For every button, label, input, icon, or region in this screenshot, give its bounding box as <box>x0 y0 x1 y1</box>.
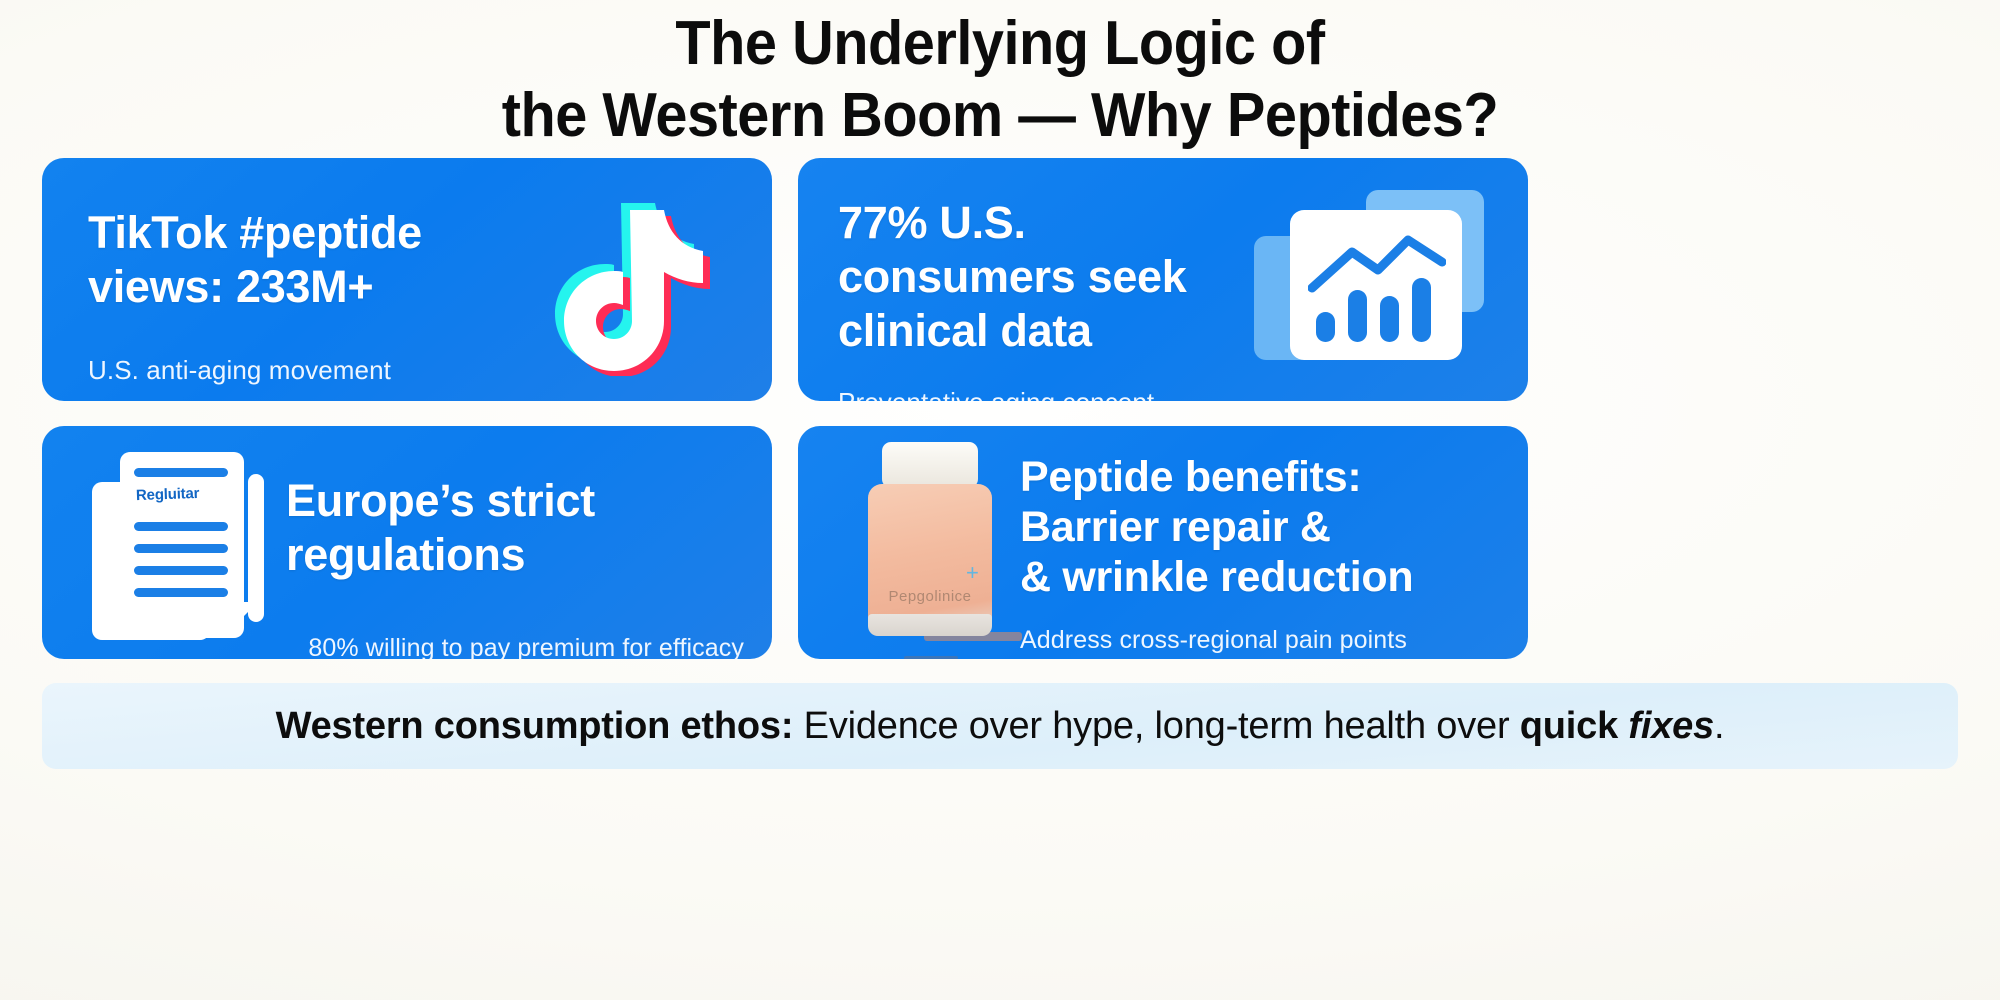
page-title-line-2: the Western Boom — Why Peptides? <box>70 80 1930 152</box>
bottle-body: + Pepgolinice <box>868 484 992 634</box>
card-clinical-subtitle: Preventative aging concept <box>838 386 1238 401</box>
regulation-document-icon: Regluitar <box>92 448 272 644</box>
card-clinical-headline-line-1: 77% U.S. <box>838 196 1238 250</box>
page-title-line-1: The Underlying Logic of <box>70 8 1930 80</box>
card-peptide-subtitle-line-1: Address cross-regional pain points <box>1020 624 1512 656</box>
tiktok-logo-icon <box>522 196 712 376</box>
card-grid: TikTok #peptide views: 233M+ U.S. anti-a… <box>42 158 1958 659</box>
bottle-base <box>868 614 992 636</box>
chart-icon-bar-1 <box>1316 312 1335 342</box>
card-europe-headline-line-1: Europe’s strict <box>286 474 744 528</box>
card-tiktok-subtitle: U.S. anti-aging movement <box>88 354 528 387</box>
card-tiktok-headline-line-2: views: 233M+ <box>88 260 528 314</box>
document-icon-side-page <box>248 474 264 622</box>
card-peptide-headline-line-3: & wrinkle reduction <box>1020 552 1512 602</box>
card-clinical-headline-line-2: consumers seek <box>838 250 1238 304</box>
chart-icon-front-sheet <box>1290 210 1462 360</box>
card-peptide-text: Peptide benefits: Barrier repair & & wri… <box>1020 452 1512 659</box>
card-peptide-subtitle-line-2: (arid west, harsh winters, intense sun) <box>1020 656 1512 659</box>
card-peptide-headline-line-1: Peptide benefits: <box>1020 452 1512 502</box>
card-peptide-headline-line-2: Barrier repair & <box>1020 502 1512 552</box>
bottle-cap <box>882 442 978 488</box>
card-europe-headline-line-2: regulations <box>286 528 744 582</box>
card-europe-text: Europe’s strict regulations 80% willing … <box>286 474 744 659</box>
page-title: The Underlying Logic of the Western Boom… <box>0 8 2000 152</box>
chart-icon-bar-3 <box>1380 296 1399 342</box>
document-icon-line-1 <box>134 468 228 477</box>
bottle-brand-label: Pepgolinice <box>868 588 992 605</box>
card-clinical-text: 77% U.S. consumers seek clinical data Pr… <box>838 196 1238 401</box>
document-icon-line-2 <box>134 522 228 531</box>
document-icon-line-5 <box>134 588 228 597</box>
ethos-period: . <box>1714 705 1724 747</box>
document-icon-front-page: Regluitar <box>120 452 244 638</box>
chart-icon-bar-4 <box>1412 278 1431 342</box>
bottle-label-line-2 <box>904 656 958 659</box>
document-icon-stamp-text: Regluitar <box>136 485 200 504</box>
card-tiktok-headline-line-1: TikTok #peptide <box>88 206 528 260</box>
ethos-banner-text: Western consumption ethos: Evidence over… <box>276 703 1725 749</box>
document-icon-corner-fold <box>232 602 258 628</box>
ethos-bold-italic-tail: fixes <box>1628 705 1714 747</box>
bar-chart-document-icon <box>1254 190 1484 370</box>
bottle-plus-icon: + <box>966 562 979 584</box>
serum-bottle-icon: + Pepgolinice <box>824 436 1034 651</box>
card-clinical-headline-line-3: clinical data <box>838 304 1238 358</box>
card-europe-regulations[interactable]: Regluitar Europe’s strict regulations 80… <box>42 426 772 659</box>
card-tiktok-views[interactable]: TikTok #peptide views: 233M+ U.S. anti-a… <box>42 158 772 401</box>
document-icon-line-4 <box>134 566 228 575</box>
document-icon-line-3 <box>134 544 228 553</box>
card-tiktok-text: TikTok #peptide views: 233M+ U.S. anti-a… <box>88 206 528 387</box>
ethos-banner: Western consumption ethos: Evidence over… <box>42 683 1958 769</box>
ethos-body: Evidence over hype, long-term health ove… <box>793 705 1519 747</box>
chart-icon-bar-2 <box>1348 290 1367 342</box>
ethos-bold-lead: Western consumption ethos: <box>276 705 794 747</box>
card-peptide-benefits[interactable]: + Pepgolinice Peptide benefits: Barrier … <box>798 426 1528 659</box>
card-europe-subtitle: 80% willing to pay premium for efficacy <box>286 632 744 659</box>
card-clinical-data[interactable]: 77% U.S. consumers seek clinical data Pr… <box>798 158 1528 401</box>
ethos-bold-tail: quick <box>1520 705 1629 747</box>
